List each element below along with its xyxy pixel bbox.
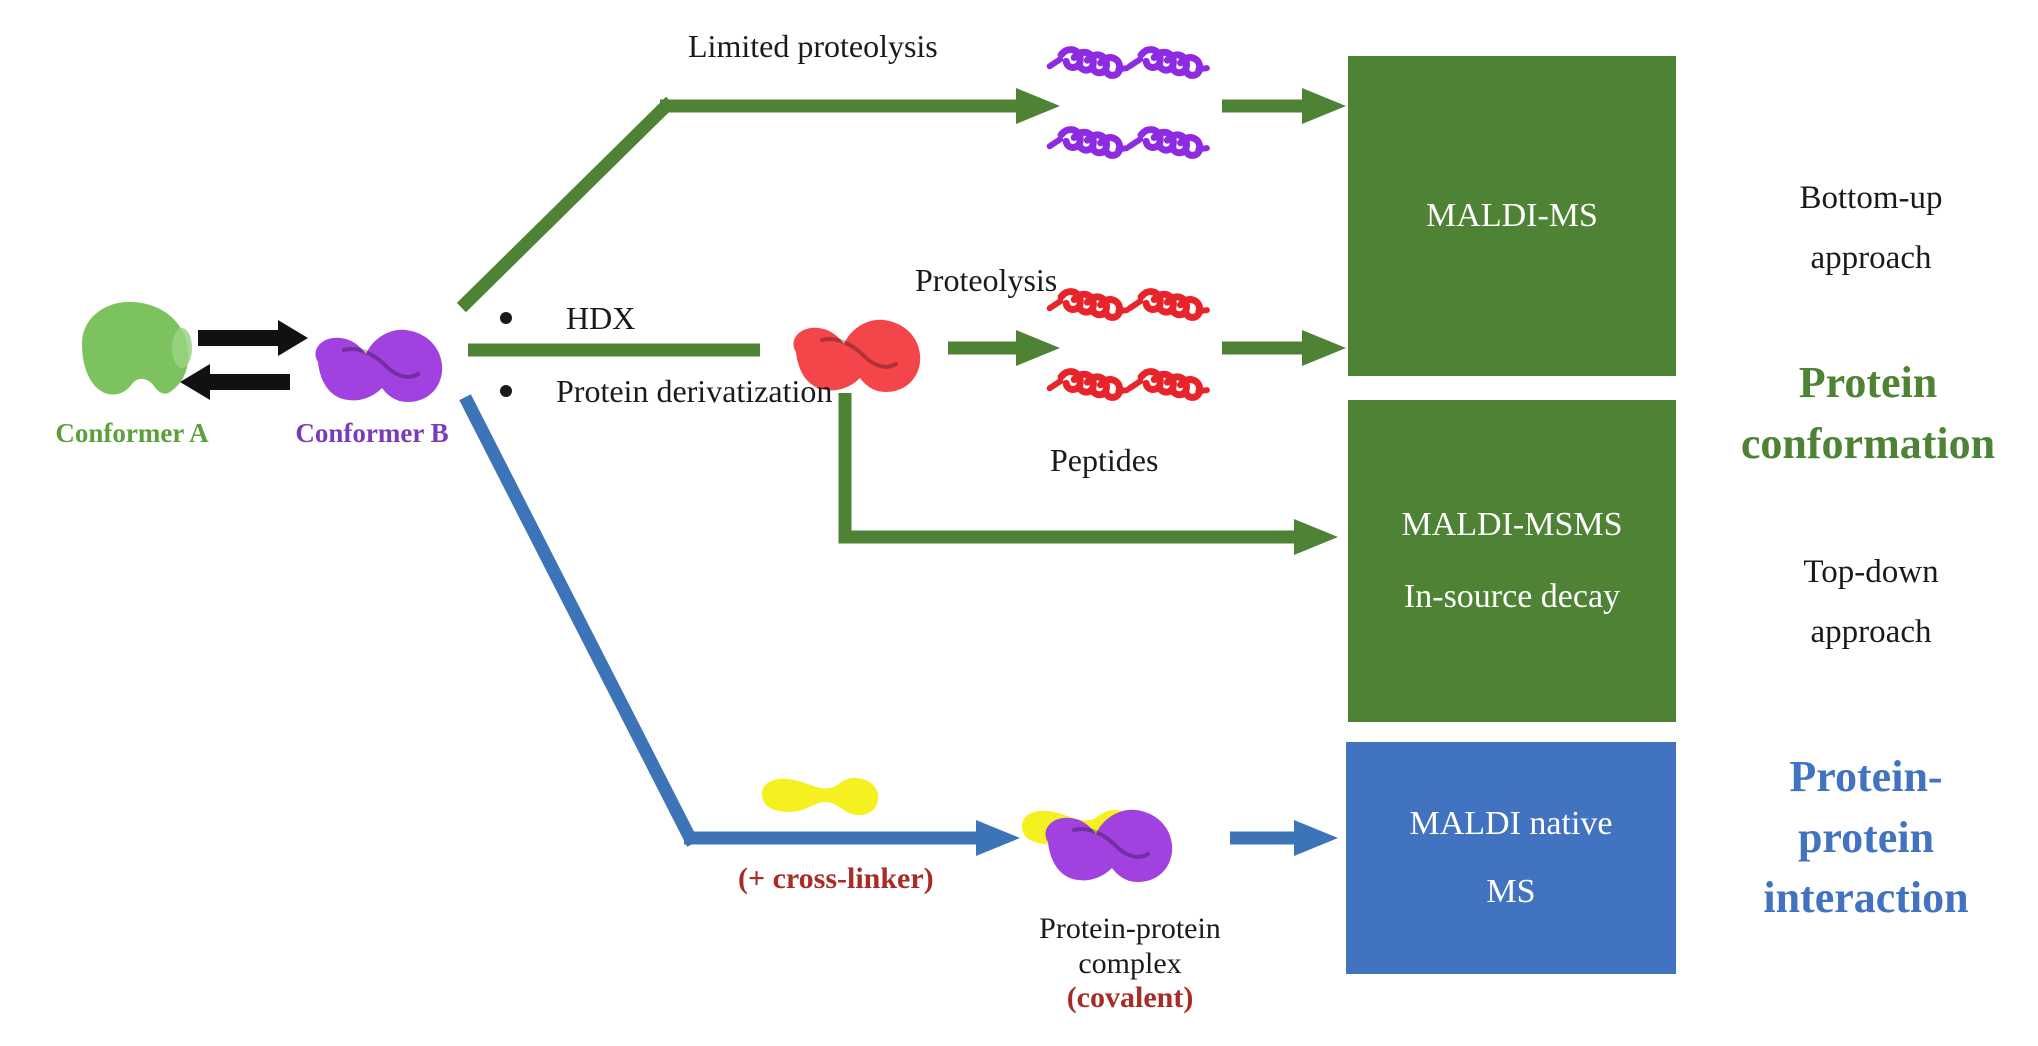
red-peptides-group — [1050, 272, 1207, 427]
maldi-native-ms-box[interactable]: MALDI native MS — [1346, 742, 1676, 974]
protein-protein-complex-shape — [1022, 810, 1172, 882]
proteolysis-arrow — [948, 330, 1060, 366]
bullet-dots — [500, 312, 512, 397]
diagram-canvas: Conformer A Conformer B Limited proteoly… — [0, 0, 2038, 1046]
equilibrium-arrows — [180, 320, 308, 400]
purple-peptides-group — [1050, 30, 1207, 185]
bottom-pathway-arrow — [468, 403, 1020, 856]
bottom-up-line1: Bottom-up — [1716, 180, 2026, 218]
maldi-native-ms-box-line1: MALDI native — [1409, 805, 1612, 843]
conformer-b-shape — [315, 330, 442, 402]
top-down-line1: Top-down — [1716, 554, 2026, 592]
protein-conformation-line1: Protein — [1698, 358, 2038, 409]
complex-caption-line2: complex — [980, 947, 1280, 982]
protein-protein-complex-caption: Protein-protein complex (covalent) — [980, 912, 1280, 1016]
protein-conformation-label: Protein conformation — [1698, 358, 2038, 469]
maldi-msms-box[interactable]: MALDI-MSMS In-source decay — [1348, 400, 1676, 722]
bottom-up-line2: approach — [1716, 240, 2026, 278]
conformer-a-shape — [82, 302, 192, 395]
maldi-ms-box[interactable]: MALDI-MS — [1348, 56, 1676, 376]
maldi-native-ms-box-line2: MS — [1486, 873, 1535, 911]
top-down-line2: approach — [1716, 614, 2026, 652]
conformer-b-label: Conformer B — [262, 418, 482, 449]
complex-to-native-ms-arrow — [1230, 820, 1338, 856]
partner-protein-shape — [762, 778, 878, 815]
maldi-msms-box-line2: In-source decay — [1404, 578, 1620, 616]
ppi-line3: interaction — [1694, 873, 2038, 924]
top-to-maldims-arrow — [1222, 88, 1346, 124]
complex-caption-line1: Protein-protein — [980, 912, 1280, 947]
maldi-ms-box-line1: MALDI-MS — [1426, 197, 1598, 235]
protein-conformation-line2: conformation — [1698, 419, 2038, 470]
hdx-bullet-label: HDX — [566, 300, 635, 337]
protein-protein-interaction-label: Protein- protein interaction — [1694, 752, 2038, 924]
bottom-up-approach-label: Bottom-up approach — [1716, 180, 2026, 278]
conformer-a-label: Conformer A — [22, 418, 242, 449]
complex-caption-line3: (covalent) — [980, 981, 1280, 1016]
top-down-approach-label: Top-down approach — [1716, 554, 2026, 652]
limited-proteolysis-label: Limited proteolysis — [688, 28, 938, 65]
ppi-line1: Protein- — [1694, 752, 2038, 803]
maldi-msms-box-line1: MALDI-MSMS — [1401, 506, 1622, 544]
protein-derivatization-bullet-label: Protein derivatization — [556, 373, 832, 410]
ppi-line2: protein — [1694, 813, 2038, 864]
middle-to-maldims-arrow — [1222, 330, 1346, 366]
peptides-label: Peptides — [1050, 442, 1158, 479]
proteolysis-label: Proteolysis — [915, 262, 1057, 299]
cross-linker-label: (+ cross-linker) — [738, 862, 934, 897]
